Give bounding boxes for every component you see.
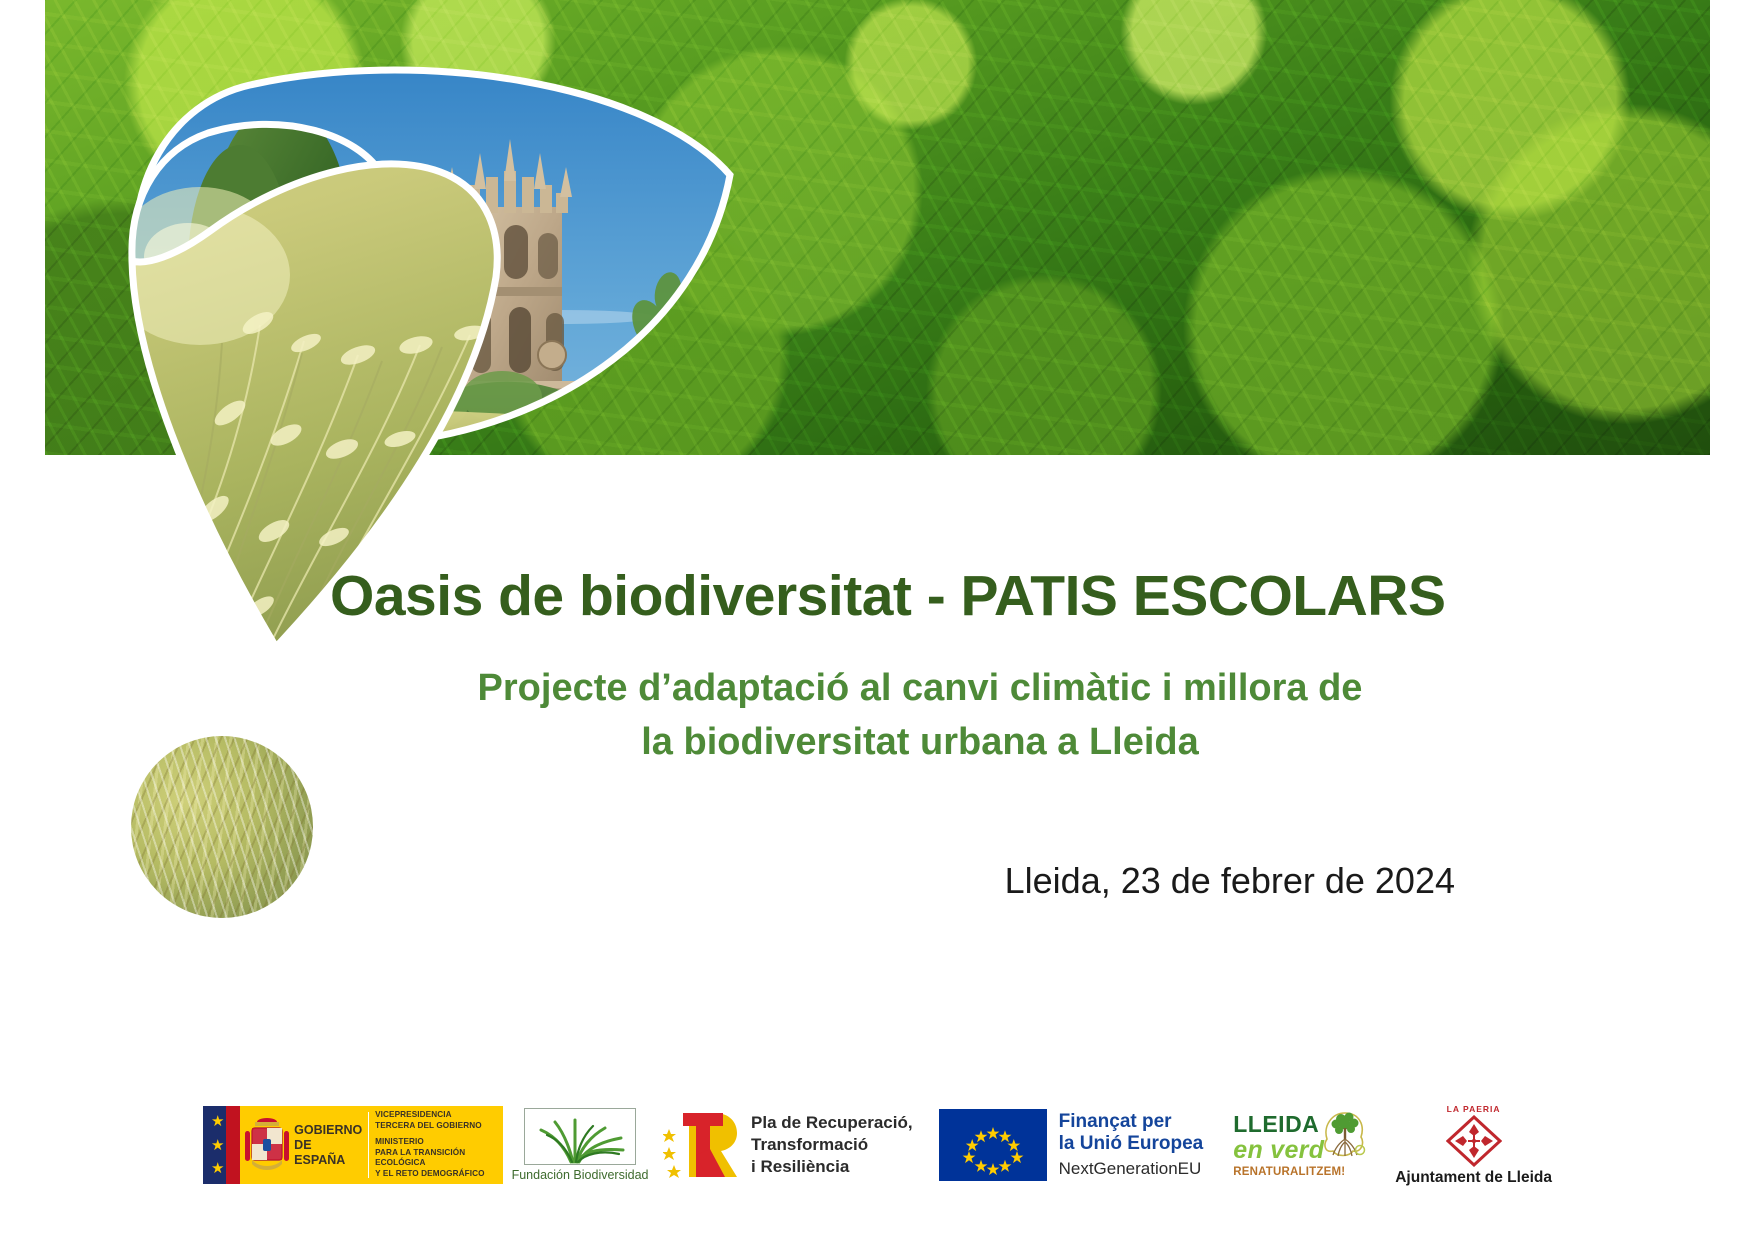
eu-text: Finançat per la Unió Europea NextGenerat… xyxy=(1059,1111,1204,1180)
lleida-en-verd-word2: en verd xyxy=(1233,1138,1324,1163)
prtr-line2: Transformació xyxy=(751,1134,913,1156)
ministry-text: VICEPRESIDENCIA TERCERA DEL GOBIERNO MIN… xyxy=(375,1106,503,1184)
subtitle-line-2: la biodiversitat urbana a Lleida xyxy=(330,716,1510,770)
gobierno-name-line1: GOBIERNO xyxy=(294,1123,362,1138)
paeria-diamond-crest-icon xyxy=(1446,1115,1502,1167)
tree-with-roots-icon xyxy=(1321,1109,1367,1161)
logo-european-union: Finançat per la Unió Europea NextGenerat… xyxy=(939,1109,1204,1181)
eu-flag-icon xyxy=(939,1109,1047,1181)
presentation-slide: Oasis de biodiversitat - PATIS ESCOLARS … xyxy=(0,0,1755,1241)
spain-flag-eu-stars-strip: ★ ★ ★ xyxy=(203,1106,240,1184)
star-icon: ★ xyxy=(211,1161,224,1176)
grass-tuft-icon xyxy=(525,1108,635,1164)
logo-lleida-en-verd: LLEIDA en verd RENATURALITZEM! xyxy=(1233,1113,1361,1178)
la-paeria-label: LA PAERIA xyxy=(1447,1104,1501,1114)
eu-line2: la Unió Europea xyxy=(1059,1133,1204,1156)
logo-ajuntament-de-lleida: LA PAERIA Ajuntament de Lleida xyxy=(1395,1104,1552,1187)
ajuntament-name: Ajuntament de Lleida xyxy=(1395,1169,1552,1187)
ministerio-line1: MINISTERIO xyxy=(375,1137,499,1148)
prtr-monogram-icon xyxy=(663,1109,741,1181)
logo-gobierno-de-espana: ★ ★ ★ GOB xyxy=(203,1106,503,1184)
vicepresidencia-block: VICEPRESIDENCIA TERCERA DEL GOBIERNO xyxy=(375,1110,499,1132)
ministerio-line2: PARA LA TRANSICIÓN ECOLÓGICA xyxy=(375,1148,499,1170)
lleida-en-verd-word1: LLEIDA xyxy=(1233,1113,1319,1136)
star-icon: ★ xyxy=(211,1138,224,1153)
event-date: Lleida, 23 de febrer de 2024 xyxy=(330,860,1510,902)
star-icon: ★ xyxy=(211,1114,224,1129)
page-subtitle: Projecte d’adaptació al canvi climàtic i… xyxy=(330,662,1510,770)
circular-grass-photo xyxy=(131,736,313,918)
vicepresidencia-line2: TERCERA DEL GOBIERNO xyxy=(375,1121,499,1132)
prtr-line1: Pla de Recuperació, xyxy=(751,1112,913,1134)
prtr-text: Pla de Recuperació, Transformació i Resi… xyxy=(751,1112,913,1177)
subtitle-line-1: Projecte d’adaptació al canvi climàtic i… xyxy=(330,662,1510,716)
gobierno-name: GOBIERNO DE ESPAÑA xyxy=(294,1106,362,1184)
logo-fundacion-biodiversidad: Fundación Biodiversidad xyxy=(521,1108,639,1182)
eu-line3: NextGenerationEU xyxy=(1059,1159,1204,1179)
fundacion-biodiversidad-caption: Fundación Biodiversidad xyxy=(512,1168,649,1182)
prtr-line3: i Resiliència xyxy=(751,1156,913,1178)
ministerio-block: MINISTERIO PARA LA TRANSICIÓN ECOLÓGICA … xyxy=(375,1137,499,1180)
eu-line1: Finançat per xyxy=(1059,1111,1204,1134)
ministerio-line3: Y EL RETO DEMOGRÁFICO xyxy=(375,1169,499,1180)
vicepresidencia-line1: VICEPRESIDENCIA xyxy=(375,1110,499,1121)
sponsor-logo-bar: ★ ★ ★ GOB xyxy=(0,1095,1755,1195)
spain-coat-of-arms-icon xyxy=(240,1106,294,1184)
logo-divider xyxy=(368,1112,369,1178)
logo-pla-recuperacio: Pla de Recuperació, Transformació i Resi… xyxy=(663,1109,913,1181)
page-title: Oasis de biodiversitat - PATIS ESCOLARS xyxy=(330,565,1660,628)
fundacion-biodiversidad-mark xyxy=(524,1108,636,1165)
lleida-en-verd-word3: RENATURALITZEM! xyxy=(1233,1166,1345,1178)
gobierno-name-line2: DE ESPAÑA xyxy=(294,1138,362,1168)
